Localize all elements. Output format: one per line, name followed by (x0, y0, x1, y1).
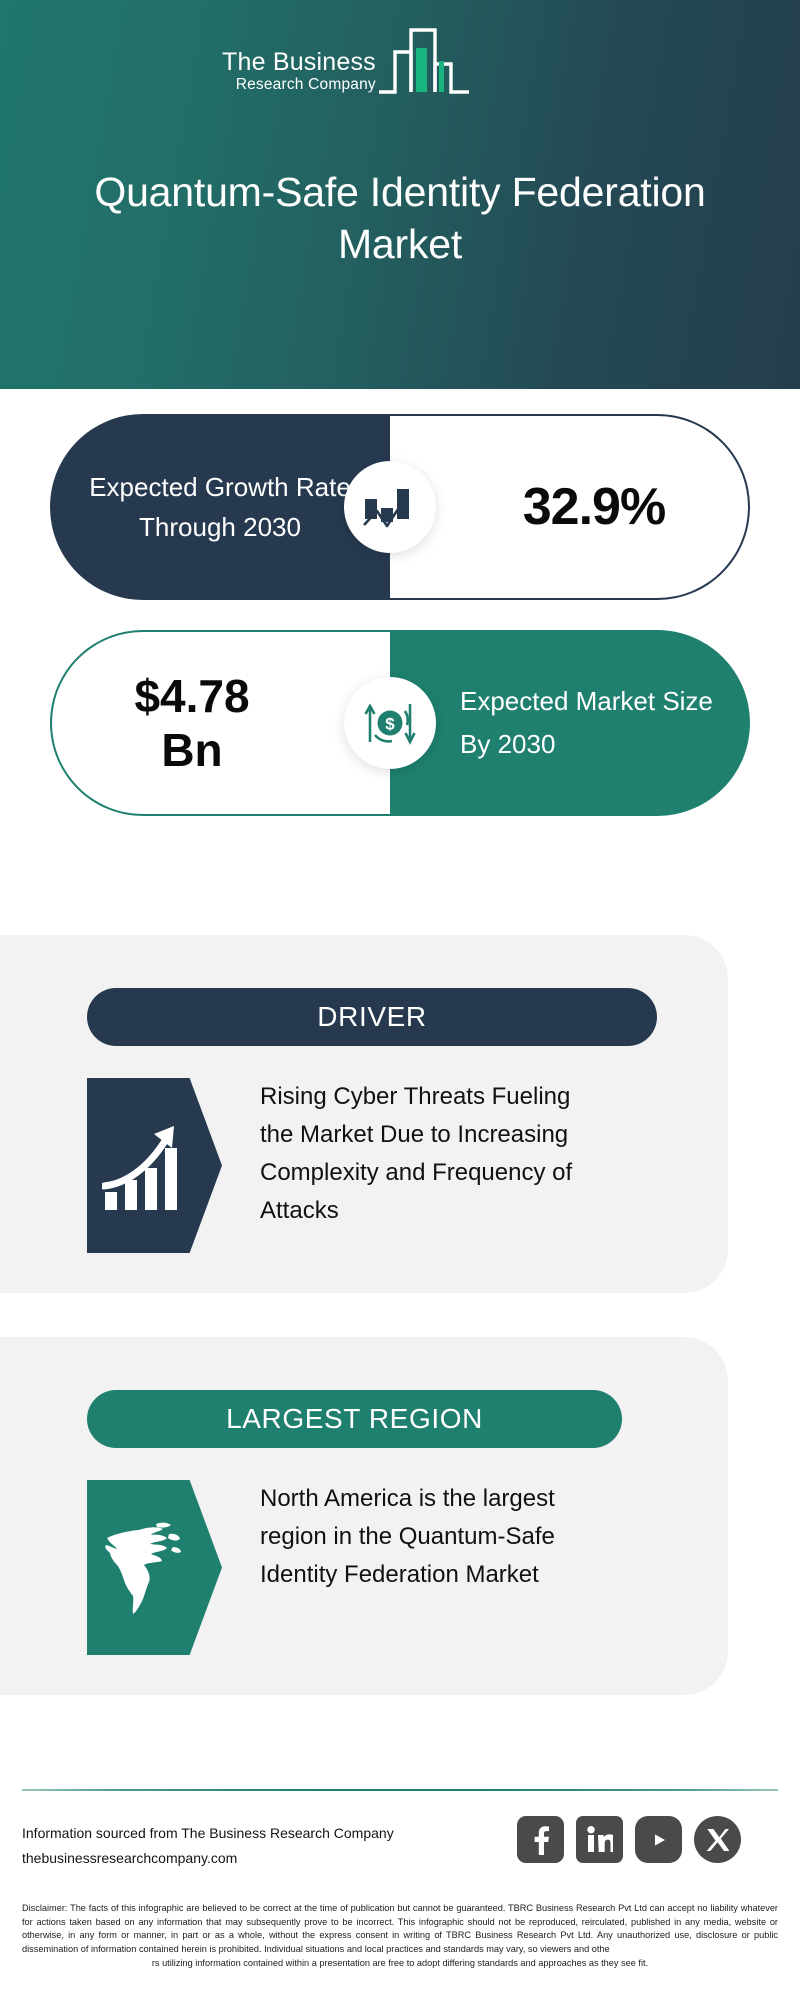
dollar-circulation-icon: $ (361, 694, 419, 752)
driver-pill: DRIVER (87, 988, 657, 1046)
social-links (517, 1816, 741, 1863)
largest-region-panel: LARGEST REGION North America is the larg… (0, 1337, 728, 1695)
disclaimer-last-line: rs utilizing information contained withi… (22, 1957, 778, 1971)
driver-pill-label: DRIVER (317, 1001, 426, 1033)
growth-label-panel: Expected Growth Rate Through 2030 (50, 414, 390, 600)
footer-source-line2[interactable]: thebusinessresearchcompany.com (22, 1846, 394, 1871)
footer-source: Information sourced from The Business Re… (22, 1821, 394, 1871)
market-size-value-line1: $4.78 (134, 670, 249, 722)
region-text: North America is the largest region in t… (260, 1480, 590, 1594)
youtube-icon[interactable] (635, 1816, 682, 1863)
market-size-value-line2: Bn (161, 724, 222, 776)
driver-icon-shape (87, 1078, 222, 1253)
region-pill: LARGEST REGION (87, 1390, 622, 1448)
region-icon-shape (87, 1480, 222, 1655)
page-title: Quantum-Safe Identity Federation Market (0, 166, 800, 270)
driver-panel: DRIVER Rising Cyber Threats Fueling the … (0, 935, 728, 1293)
expected-growth-rate-card: Expected Growth Rate Through 2030 32.9% (50, 414, 750, 600)
expected-market-size-card: $4.78 Bn Expected Market Size By 2030 $ (50, 630, 750, 816)
market-size-icon-badge: $ (344, 677, 436, 769)
north-america-map-icon (101, 1516, 193, 1620)
logo-wordmark: The Business Research Company (222, 49, 376, 98)
logo-line-1: The Business (222, 49, 376, 76)
x-twitter-icon[interactable] (694, 1816, 741, 1863)
logo-line-2: Research Company (236, 76, 376, 94)
company-logo: The Business Research Company (222, 23, 512, 98)
infographic-page: The Business Research Company Quantum-Sa… (0, 0, 800, 2000)
disclaimer-text: Disclaimer: The facts of this infographi… (22, 1902, 778, 1971)
linkedin-icon[interactable] (576, 1816, 623, 1863)
svg-text:$: $ (385, 715, 395, 734)
growth-icon-badge (344, 461, 436, 553)
disclaimer-main: Disclaimer: The facts of this infographi… (22, 1903, 778, 1954)
market-size-value-panel: $4.78 Bn (50, 630, 390, 816)
region-pill-label: LARGEST REGION (226, 1403, 483, 1435)
header-banner: The Business Research Company Quantum-Sa… (0, 0, 800, 389)
market-size-label-panel: Expected Market Size By 2030 (390, 630, 750, 816)
footer-source-line1: Information sourced from The Business Re… (22, 1821, 394, 1846)
market-size-label: Expected Market Size By 2030 (460, 680, 750, 766)
growth-chart-arrow-icon (362, 481, 418, 533)
bar-chart-growth-arrow-icon (102, 1120, 190, 1212)
facebook-icon[interactable] (517, 1816, 564, 1863)
market-size-value: $4.78 Bn (134, 669, 307, 777)
region-body: North America is the largest region in t… (87, 1480, 590, 1655)
bar-chart-logo-mark (377, 24, 471, 96)
driver-body: Rising Cyber Threats Fueling the Market … (87, 1078, 590, 1253)
growth-value-panel: 32.9% (390, 414, 750, 600)
growth-value: 32.9% (473, 477, 665, 537)
growth-label: Expected Growth Rate Through 2030 (70, 467, 370, 547)
driver-text: Rising Cyber Threats Fueling the Market … (260, 1078, 590, 1230)
footer-divider (22, 1789, 778, 1791)
